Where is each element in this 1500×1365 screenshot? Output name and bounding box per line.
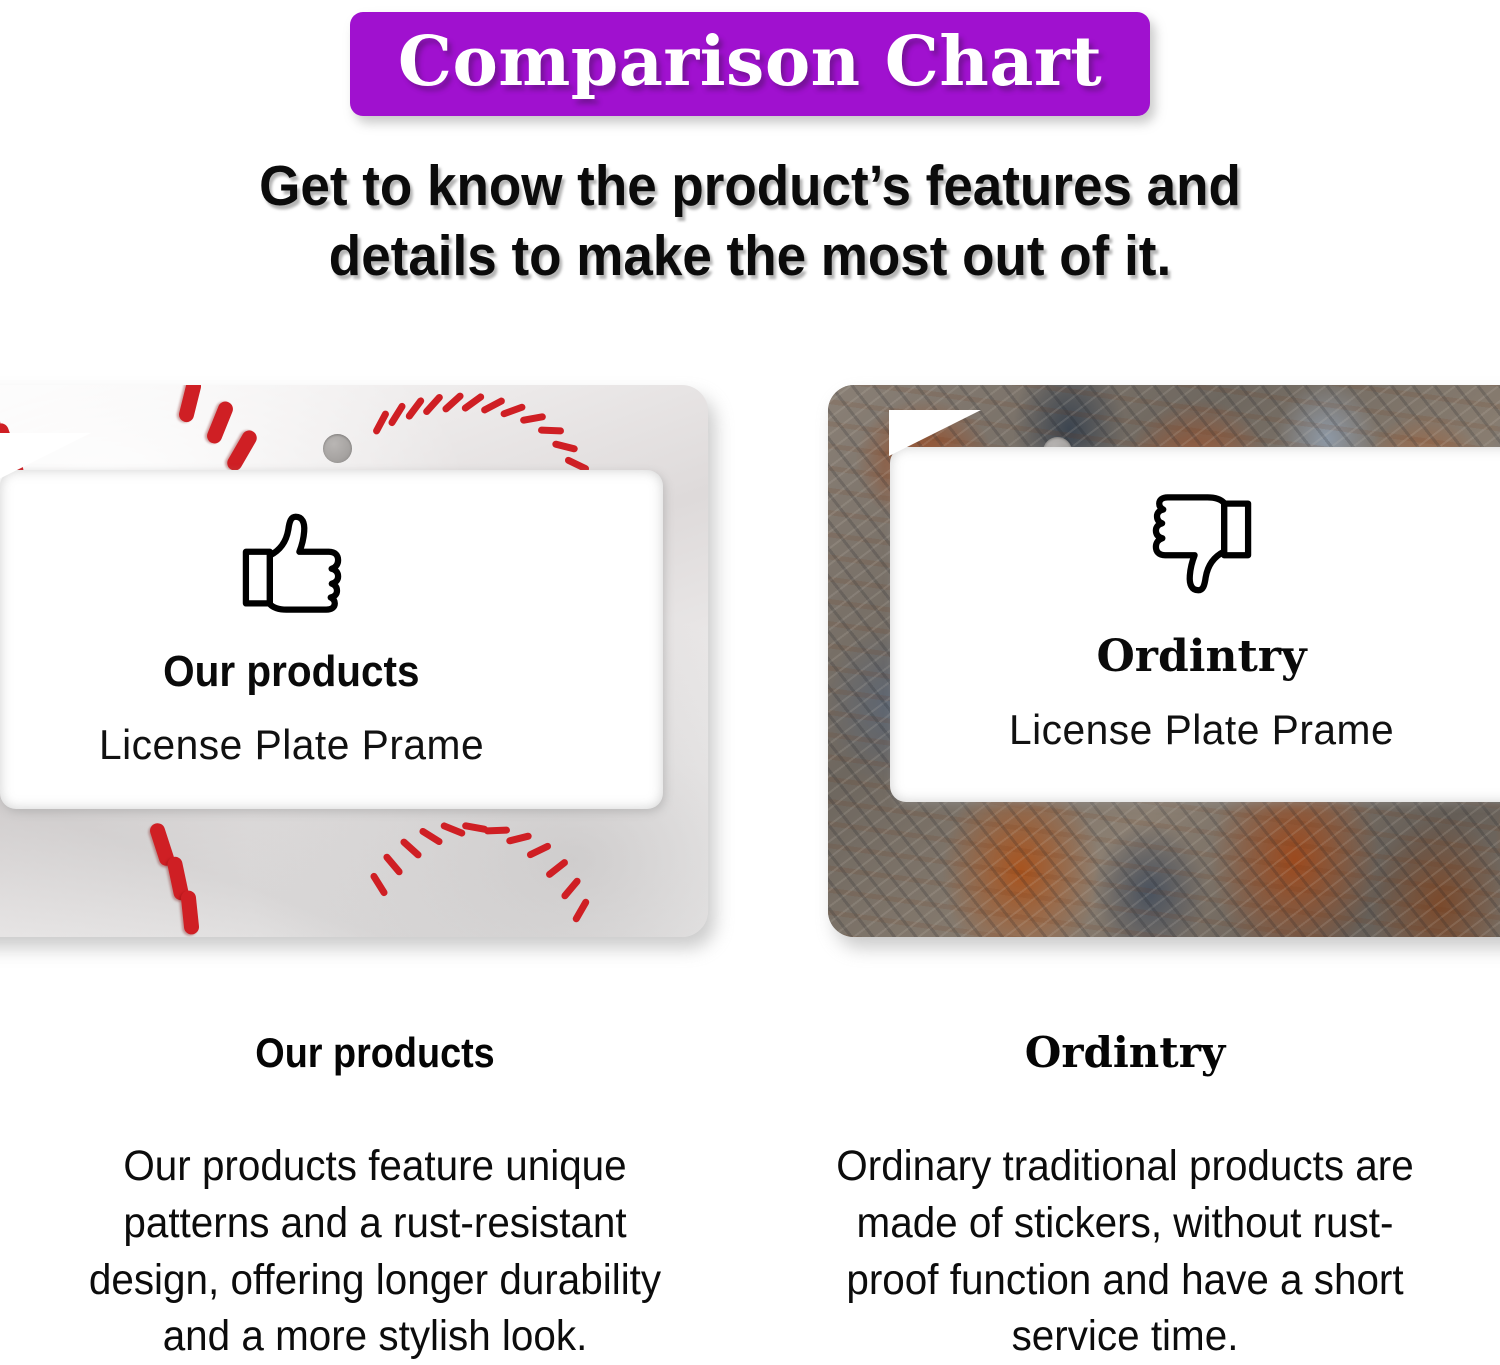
- rusted-frame-body: Ordintry License Plate Prame: [828, 385, 1500, 937]
- license-plate-window-left: Our products License Plate Prame: [0, 470, 663, 809]
- our-products-description: Our products feature unique patterns and…: [74, 1138, 676, 1365]
- left-product-label: License Plate Prame: [99, 721, 484, 769]
- ordinary-heading: Ordintry: [805, 1030, 1445, 1076]
- comparison-images-row: Our products License Plate Prame: [0, 385, 1500, 945]
- comparison-descriptions-row: Our products Our products feature unique…: [0, 1030, 1500, 1365]
- page-header: Comparison Chart Get to know the product…: [0, 0, 1500, 291]
- thumbs-down-icon: [1143, 487, 1261, 610]
- page-subtitle: Get to know the product’s features and d…: [183, 152, 1318, 291]
- title-banner: Comparison Chart: [350, 12, 1150, 116]
- our-product-frame-image: Our products License Plate Prame: [0, 385, 708, 937]
- left-window-content: Our products License Plate Prame: [0, 470, 663, 809]
- ordinary-heading-text: Ordintry: [1025, 1030, 1226, 1076]
- right-product-label: License Plate Prame: [1009, 706, 1394, 754]
- our-products-heading: Our products: [55, 1030, 695, 1076]
- ordinary-column: Ordintry Ordinary traditional products a…: [750, 1030, 1500, 1365]
- our-products-heading-text: Our products: [255, 1030, 494, 1076]
- screw-hole-icon: [323, 434, 352, 463]
- baseball-frame-body: Our products License Plate Prame: [0, 385, 708, 937]
- ordinary-product-frame-image: Ordintry License Plate Prame: [828, 385, 1500, 937]
- ordinary-description: Ordinary traditional products are made o…: [824, 1138, 1426, 1365]
- thumbs-up-icon: [233, 502, 351, 625]
- seam-stitch: [538, 427, 564, 435]
- right-window-content: Ordintry License Plate Prame: [890, 447, 1500, 802]
- seam-stitch: [484, 827, 510, 835]
- left-brand-label: Our products: [163, 649, 419, 695]
- license-plate-window-right: Ordintry License Plate Prame: [890, 447, 1500, 802]
- page-title: Comparison Chart: [394, 22, 1106, 102]
- our-products-column: Our products Our products feature unique…: [0, 1030, 750, 1365]
- right-brand-label: Ordintry: [1096, 634, 1306, 680]
